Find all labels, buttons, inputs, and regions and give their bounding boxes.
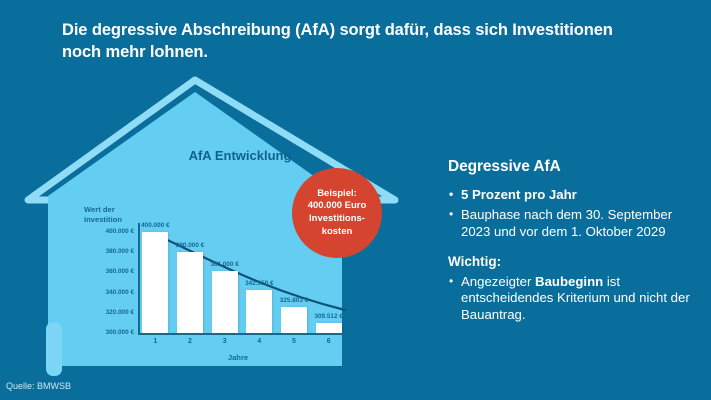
x-tick-label: 6 <box>314 338 344 345</box>
x-tick-label: 2 <box>175 338 205 345</box>
y-tick-label: 320.000 € <box>78 309 134 316</box>
info-panel: Degressive AfA 5 Prozent pro Jahr Baupha… <box>448 158 698 327</box>
bar-value-label: 380.000 € <box>160 242 220 249</box>
bar-value-label: 361.000 € <box>195 261 255 268</box>
x-axis-label: Jahre <box>138 353 338 362</box>
y-tick-label: 400.000 € <box>78 228 134 235</box>
x-tick-label: 3 <box>210 338 240 345</box>
y-tick-label: 380.000 € <box>78 248 134 255</box>
infographic-canvas: Die degressive Abschreibung (AfA) sorgt … <box>0 0 711 400</box>
house-door <box>46 322 62 376</box>
bar-value-label: 400.000 € <box>125 222 185 229</box>
panel-bullet-1: 5 Prozent pro Jahr <box>448 187 698 203</box>
x-tick-label: 5 <box>279 338 309 345</box>
bar-value-label: 325.803 € <box>264 297 324 304</box>
y-axis-line <box>138 223 140 335</box>
y-tick-label: 360.000 € <box>78 268 134 275</box>
y-axis-label-text: Wert der Investition <box>84 205 122 224</box>
y-tick-label: 300.000 € <box>78 329 134 336</box>
bullet-3-pre: Angezeigter <box>461 274 535 289</box>
panel-bullet-3: Angezeigter Baubeginn ist entscheidendes… <box>448 274 698 323</box>
panel-heading: Degressive AfA <box>448 158 698 176</box>
x-tick-label: 1 <box>140 338 170 345</box>
panel-bullet-2: Bauphase nach dem 30. September 2023 und… <box>448 207 698 240</box>
bar-value-label: 342.950 € <box>229 280 289 287</box>
chart-bar <box>316 323 342 333</box>
afa-bar-chart: Wert der Investition 400.000 €380.000 €3… <box>78 205 368 375</box>
panel-subheading: Wichtig: <box>448 254 698 269</box>
bar-value-label: 309.512 € <box>299 313 359 320</box>
badge-line-1: Beispiel: <box>317 188 357 199</box>
source-attribution: Quelle: BMWSB <box>6 381 71 391</box>
y-tick-label: 340.000 € <box>78 289 134 296</box>
bullet-3-bold: Baubeginn <box>535 274 603 289</box>
x-axis-line <box>138 333 346 335</box>
x-tick-label: 4 <box>244 338 274 345</box>
chart-title: AfA Entwicklung <box>120 148 360 163</box>
